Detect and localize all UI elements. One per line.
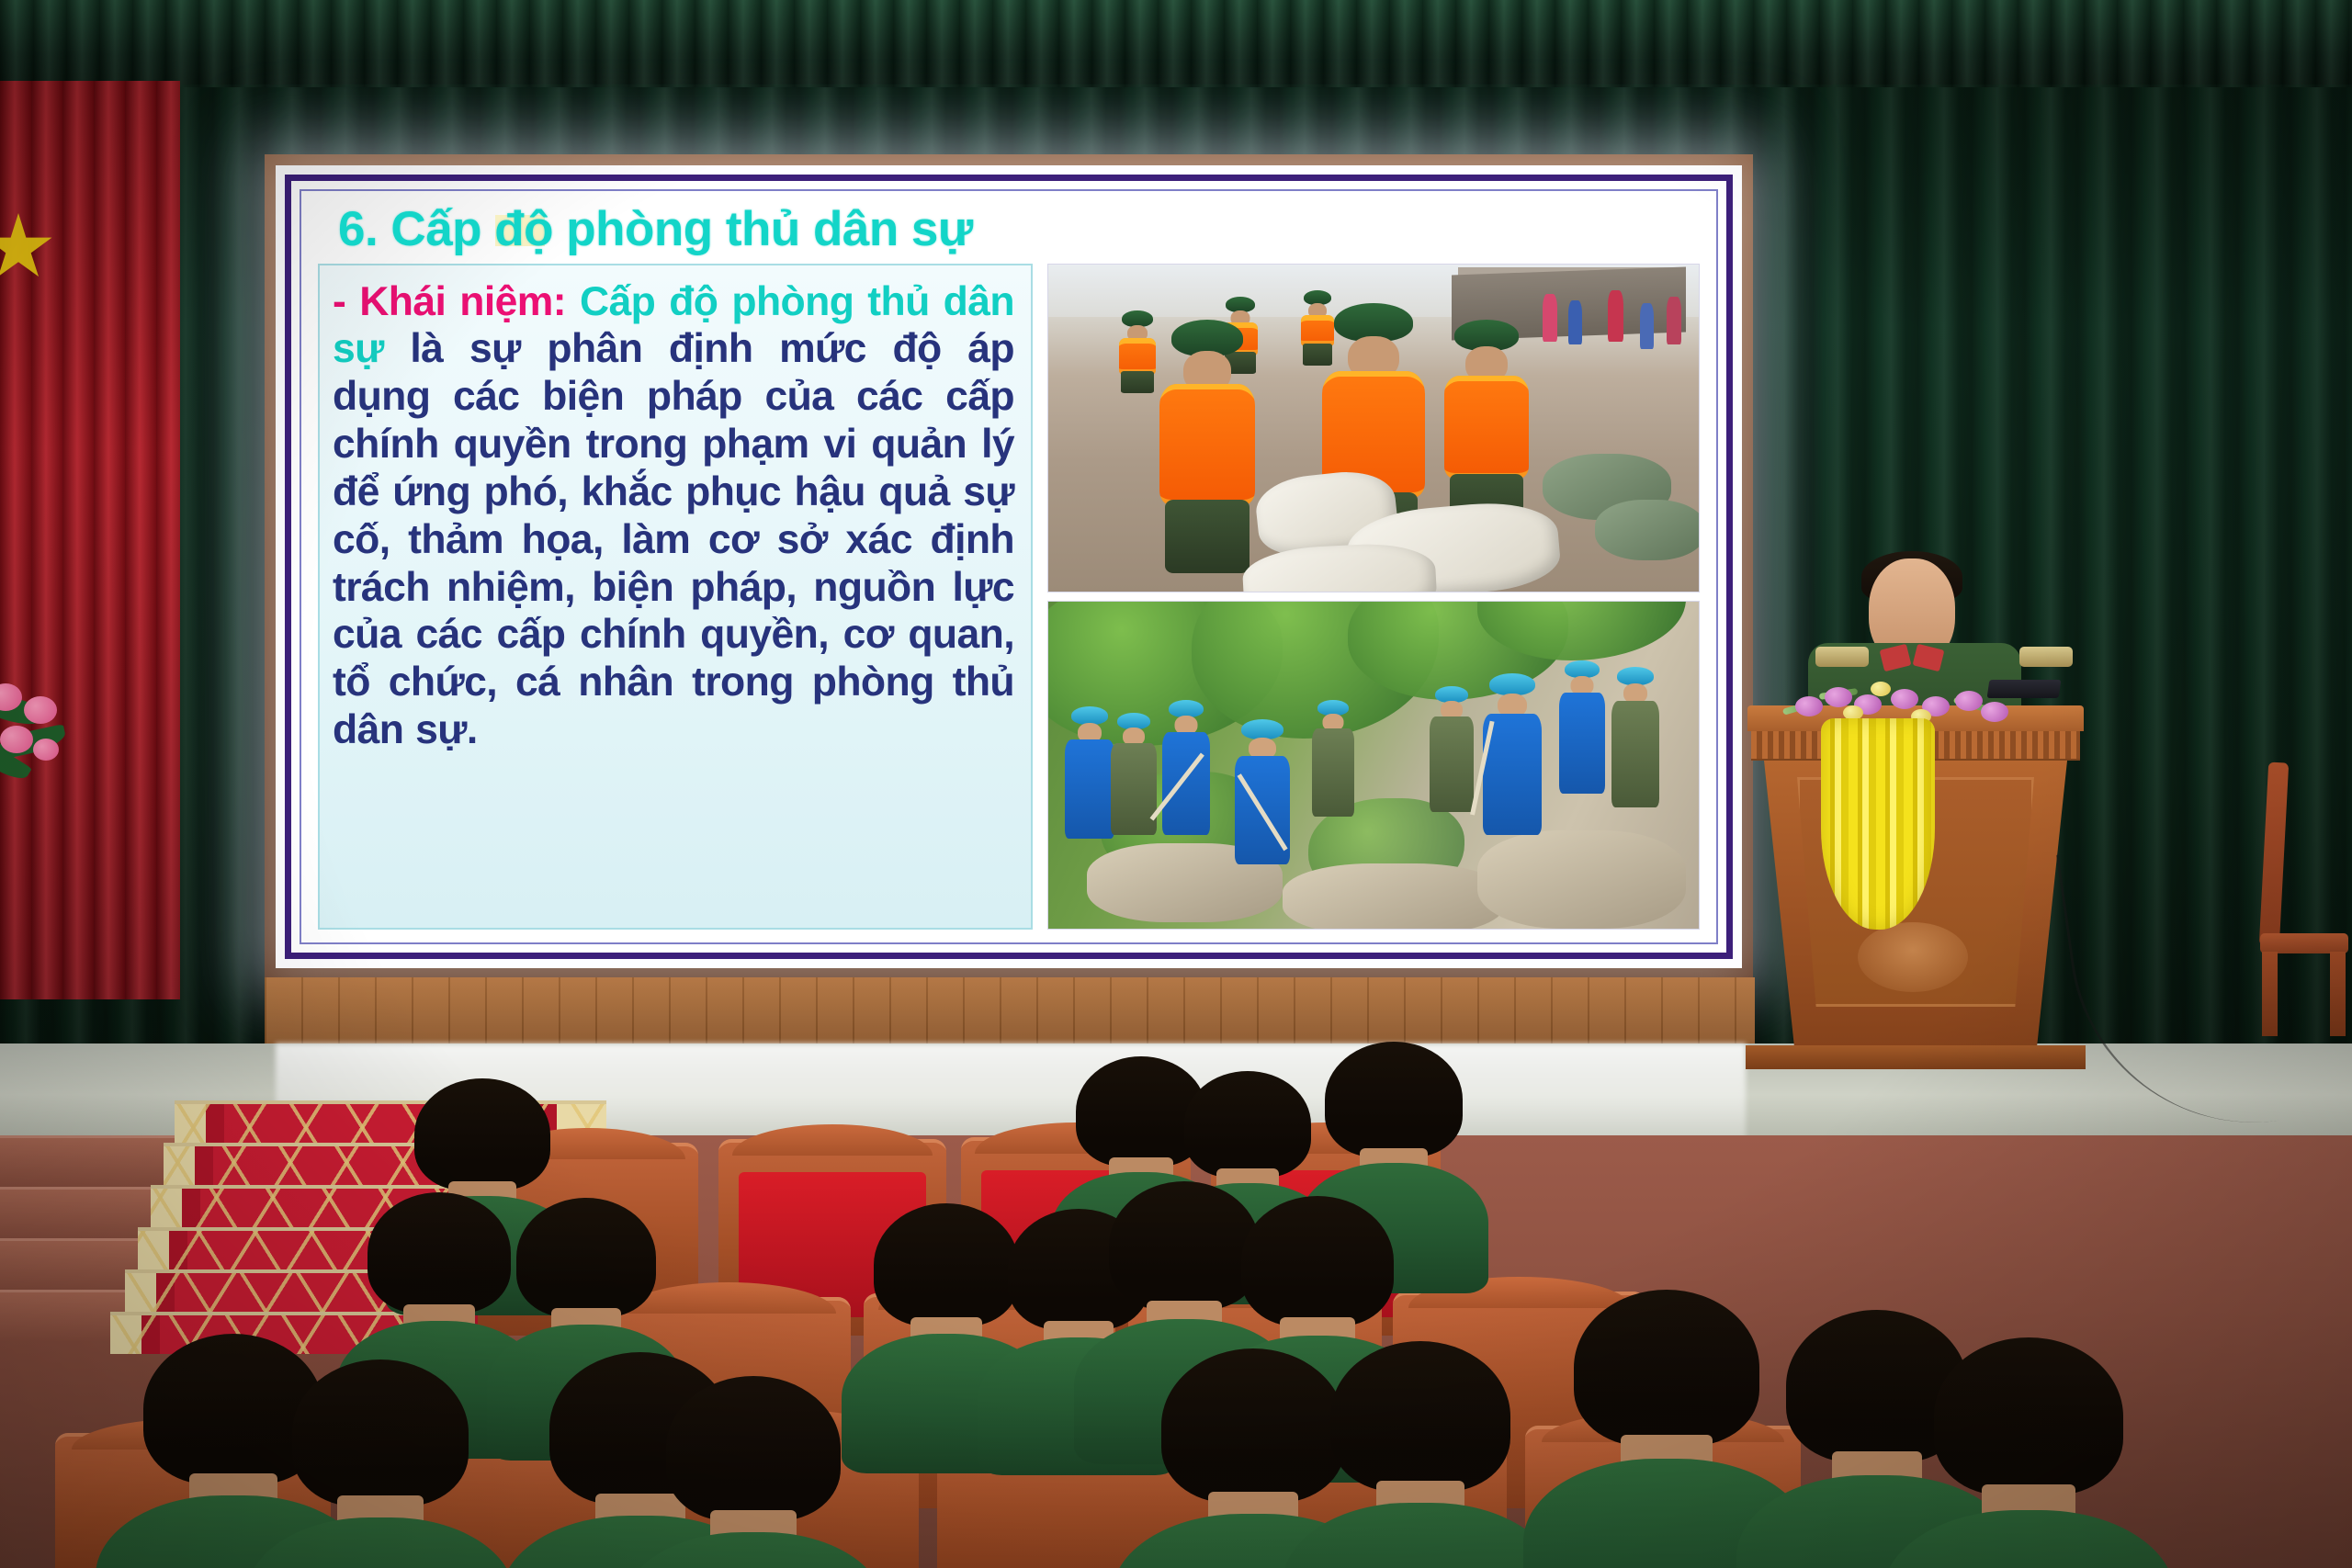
slide-title: 6. Cấp độ phòng thủ dân sự xyxy=(318,204,1700,255)
slide-text-panel: - Khái niệm: Cấp độ phòng thủ dân sự là … xyxy=(318,264,1033,930)
slide-paragraph: - Khái niệm: Cấp độ phòng thủ dân sự là … xyxy=(333,278,1014,754)
speaker-epaulet-left xyxy=(1815,647,1869,667)
photo-flood-sandbags xyxy=(1047,264,1700,592)
stage-front-panel xyxy=(265,977,1755,1043)
audience-seating: BAN CH... PCK CẢNG ĐỒN B... xyxy=(0,1084,2352,1568)
side-flower-arrangement xyxy=(0,643,110,818)
curtain-valance xyxy=(0,0,2352,87)
photo-landslide-clearing xyxy=(1047,601,1700,930)
vietnam-flag-red-backdrop xyxy=(0,81,180,999)
podium-emblem xyxy=(1858,922,1968,992)
side-wooden-chair[interactable] xyxy=(2238,762,2348,1038)
slide-title-text: 6. Cấp độ phòng thủ dân sự xyxy=(338,202,973,256)
presentation-slide[interactable]: 6. Cấp độ phòng thủ dân sự - Khái niệm: … xyxy=(285,175,1733,959)
slide-photo-column xyxy=(1047,264,1700,930)
podium-yellow-garland xyxy=(1821,718,1935,930)
concept-definition-text: là sự phân định mức độ áp dụng các biện … xyxy=(333,326,1014,752)
podium-area xyxy=(1751,551,2137,1066)
speaker-epaulet-right xyxy=(2019,647,2073,667)
concept-label: Khái niệm: xyxy=(359,279,566,324)
audience-member xyxy=(643,1376,864,1568)
bullet-dash: - xyxy=(333,279,345,324)
audience-member xyxy=(268,1359,492,1568)
audience-member xyxy=(1306,1341,1534,1568)
audience-member xyxy=(1911,1337,2146,1568)
conference-hall-scene: 6. Cấp độ phòng thủ dân sự - Khái niệm: … xyxy=(0,0,2352,1568)
